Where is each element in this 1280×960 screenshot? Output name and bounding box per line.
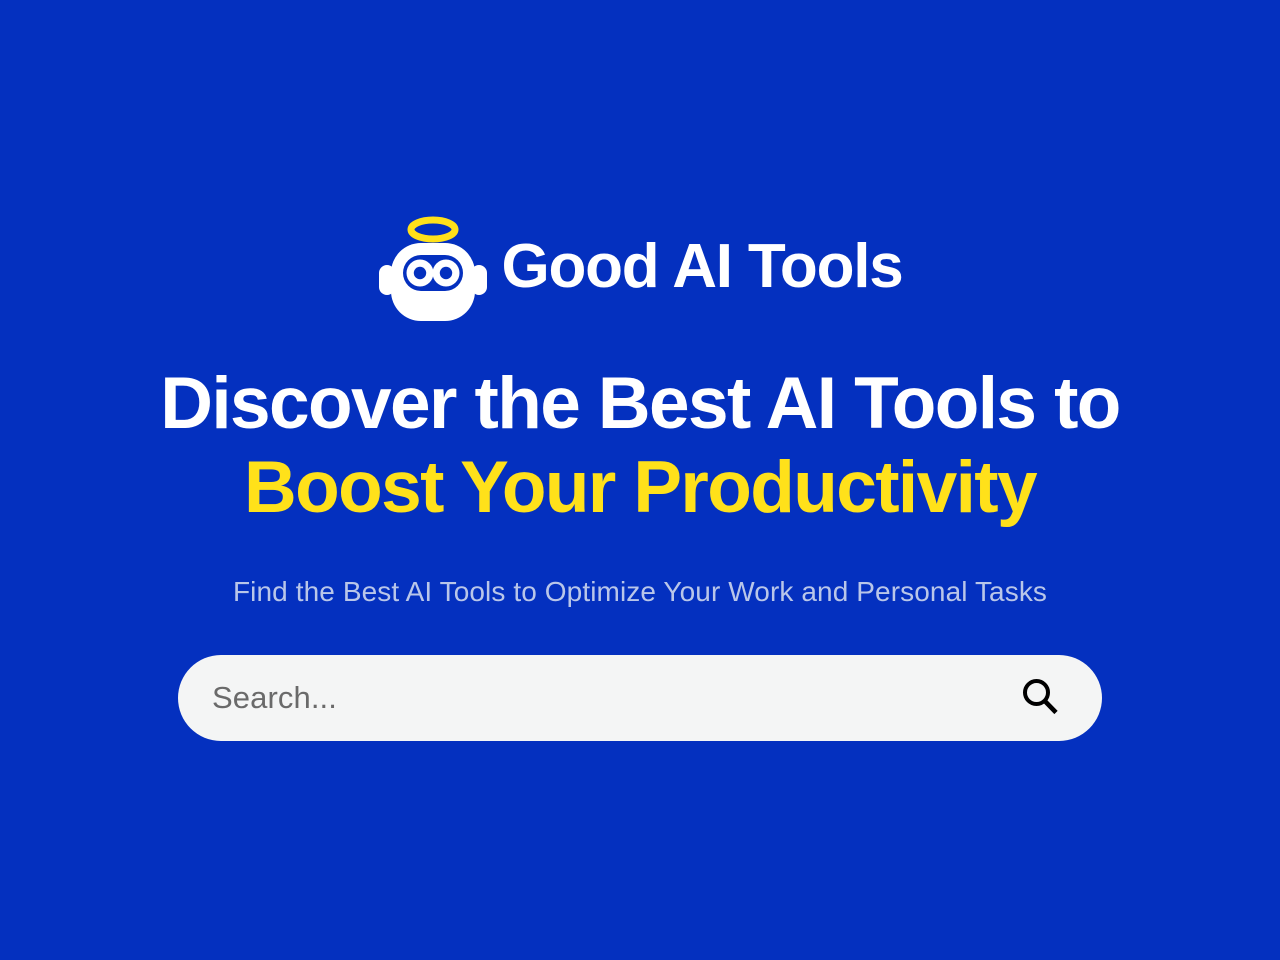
logo-wordmark: Good AI Tools bbox=[501, 236, 902, 302]
page-subtitle: Find the Best AI Tools to Optimize Your … bbox=[0, 574, 1280, 610]
search-button[interactable] bbox=[1014, 672, 1066, 724]
page-title: Discover the Best AI Tools to Boost Your… bbox=[0, 362, 1280, 530]
headline-line-1: Discover the Best AI Tools to bbox=[0, 362, 1280, 446]
site-logo[interactable]: Good AI Tools bbox=[0, 213, 1280, 325]
search-icon bbox=[1018, 675, 1062, 722]
headline-line-2: Boost Your Productivity bbox=[0, 446, 1280, 530]
hero-section: Good AI Tools Discover the Best AI Tools… bbox=[0, 0, 1280, 960]
robot-halo-icon bbox=[377, 213, 489, 325]
search-input[interactable] bbox=[212, 655, 1014, 741]
search-bar[interactable] bbox=[178, 655, 1102, 741]
